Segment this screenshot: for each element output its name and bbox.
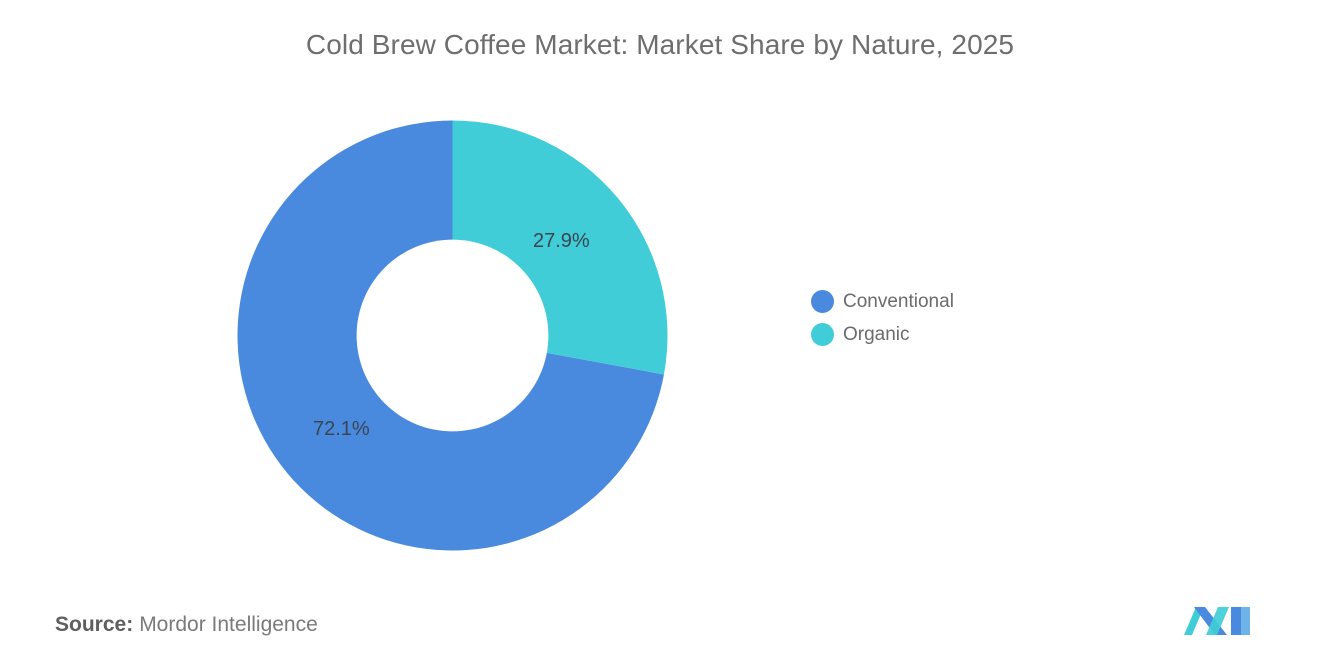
donut-hole (357, 240, 549, 432)
slice-label-conventional: 72.1% (313, 418, 370, 441)
legend-swatch-icon (811, 290, 834, 313)
legend-label: Organic (843, 325, 910, 344)
mordor-intelligence-logo-icon (1184, 599, 1256, 637)
chart-container: Cold Brew Coffee Market: Market Share by… (0, 0, 1320, 665)
legend-swatch-icon (811, 323, 834, 346)
chart-title: Cold Brew Coffee Market: Market Share by… (0, 29, 1320, 61)
source-value: Mordor Intelligence (139, 613, 318, 636)
legend-item-conventional[interactable]: Conventional (811, 285, 1071, 318)
source-attribution: Source:Mordor Intelligence (55, 613, 318, 637)
source-label: Source: (55, 613, 133, 636)
chart-legend: Conventional Organic (811, 285, 1071, 351)
slice-label-organic: 27.9% (533, 230, 590, 253)
legend-label: Conventional (843, 292, 954, 311)
legend-item-organic[interactable]: Organic (811, 318, 1071, 351)
donut-svg (237, 120, 668, 551)
donut-chart: 27.9% 72.1% (237, 120, 668, 551)
